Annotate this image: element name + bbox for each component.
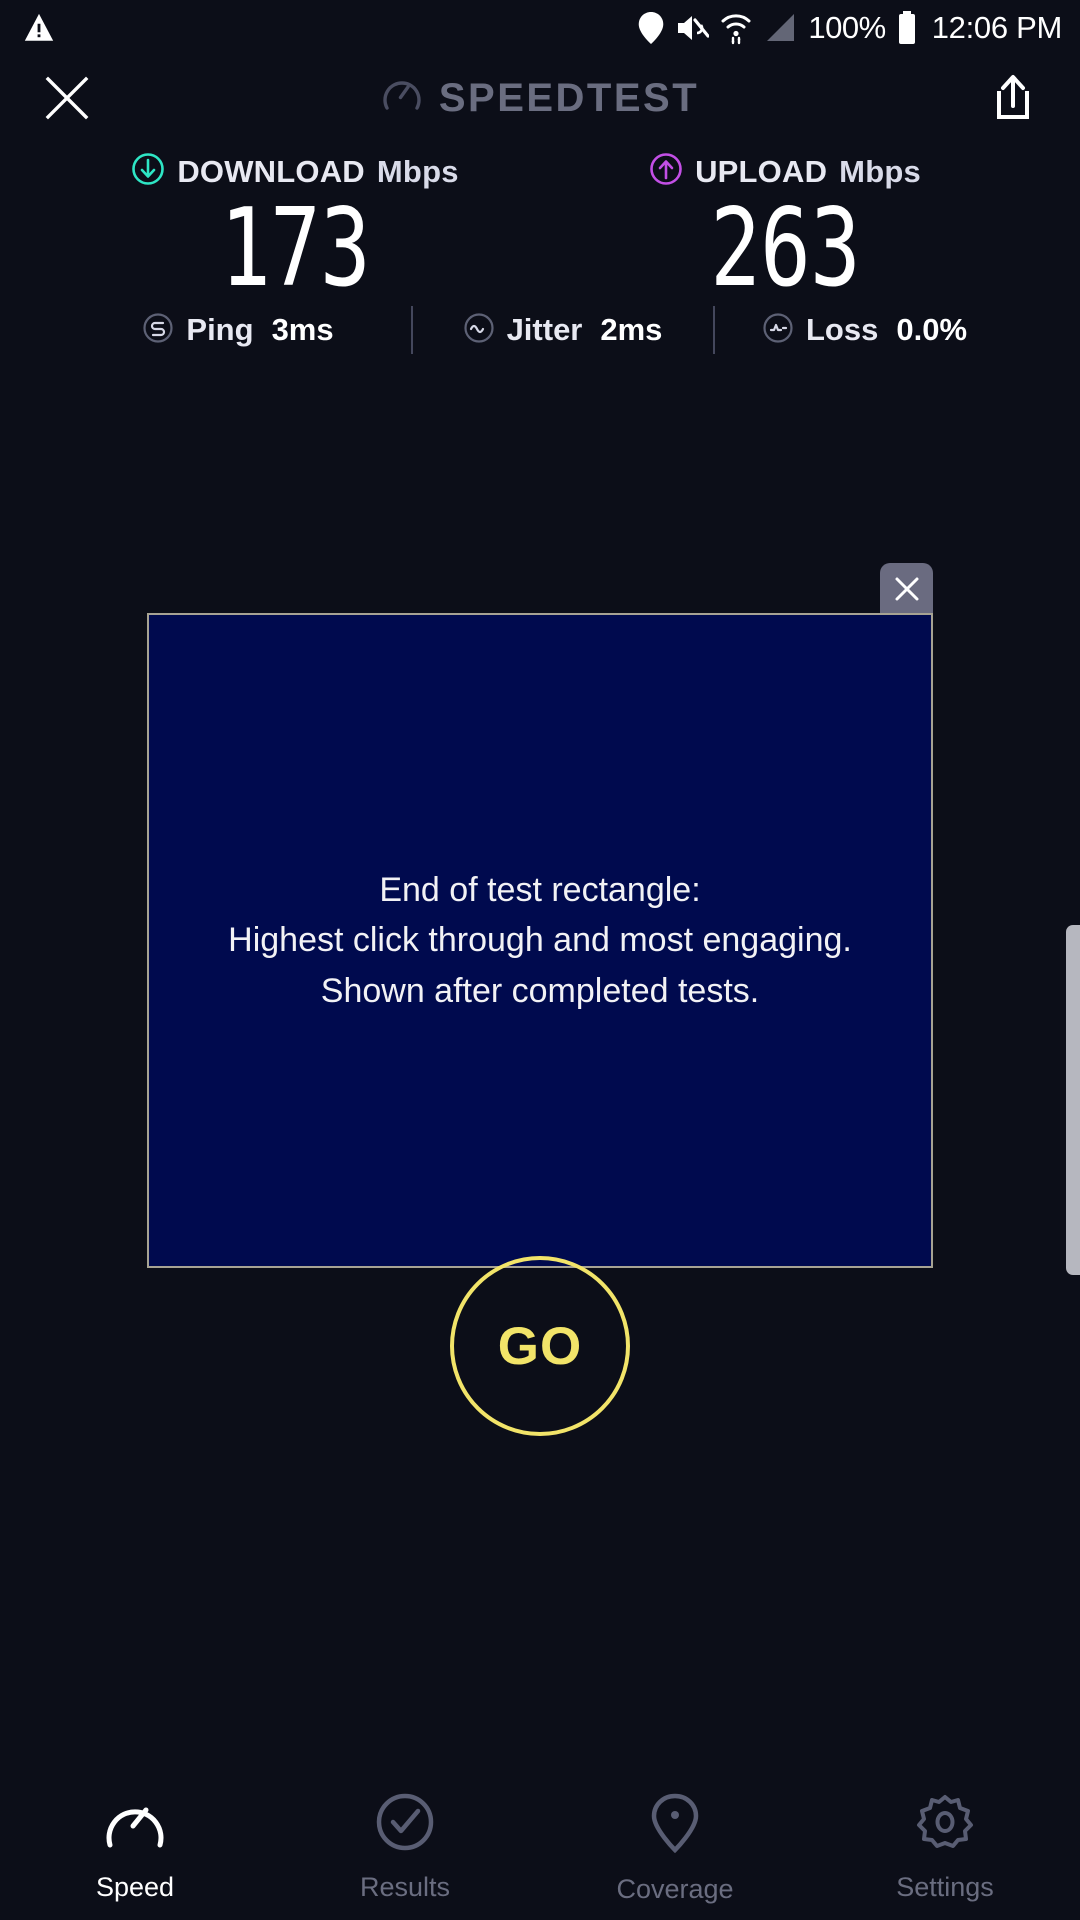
- jitter-name: Jitter: [507, 312, 583, 348]
- ping-value: 3ms: [272, 312, 334, 348]
- ad-text: End of test rectangle: Highest click thr…: [228, 865, 852, 1016]
- upload-arrow-icon: [649, 152, 683, 191]
- app-header: SPEEDTEST: [0, 56, 1080, 140]
- battery-percent-label: 100%: [808, 10, 885, 46]
- close-button[interactable]: [38, 69, 96, 127]
- status-bar: 100% 12:06 PM: [0, 0, 1080, 56]
- brand: SPEEDTEST: [381, 75, 699, 122]
- warning-triangle-icon: [22, 11, 56, 45]
- status-bar-left: [22, 11, 56, 45]
- loss-value: 0.0%: [896, 312, 967, 348]
- ad-rectangle[interactable]: End of test rectangle: Highest click thr…: [147, 613, 933, 1268]
- loss-name: Loss: [806, 312, 878, 348]
- bottom-navigation: Speed Results Coverage: [0, 1785, 1080, 1920]
- ping-stat: Ping 3ms: [66, 312, 411, 349]
- jitter-stat: Jitter 2ms: [413, 312, 713, 349]
- status-bar-right: 100% 12:06 PM: [638, 10, 1062, 46]
- check-circle-icon: [375, 1793, 435, 1856]
- speedtest-app-screen: 100% 12:06 PM SPEEDTEST: [0, 0, 1080, 1920]
- loss-stat: Loss 0.0%: [715, 312, 1015, 349]
- metric-row: DOWNLOAD Mbps 173 UPLOAD Mbps: [0, 140, 1080, 303]
- upload-metric: UPLOAD Mbps 263: [575, 152, 995, 303]
- loss-icon: [762, 312, 794, 349]
- nav-item-coverage[interactable]: Coverage: [540, 1793, 810, 1905]
- volume-mute-icon: [675, 12, 709, 44]
- page-title: SPEEDTEST: [439, 76, 699, 121]
- nav-label-settings: Settings: [896, 1872, 994, 1903]
- ping-name: Ping: [186, 312, 253, 348]
- go-button[interactable]: GO: [450, 1256, 630, 1436]
- ping-icon: [142, 312, 174, 349]
- speedometer-icon: [103, 1793, 167, 1856]
- share-button[interactable]: [984, 69, 1042, 127]
- nav-item-results[interactable]: Results: [270, 1793, 540, 1903]
- download-value: 173: [220, 195, 370, 303]
- results-panel: DOWNLOAD Mbps 173 UPLOAD Mbps: [0, 140, 1080, 303]
- download-unit: Mbps: [377, 154, 459, 190]
- wifi-icon: [720, 11, 752, 45]
- nav-label-results: Results: [360, 1872, 450, 1903]
- clock-label: 12:06 PM: [932, 10, 1062, 46]
- location-pin-icon: [638, 12, 664, 44]
- jitter-icon: [463, 312, 495, 349]
- nav-item-speed[interactable]: Speed: [0, 1793, 270, 1903]
- cellular-signal-icon: [763, 12, 797, 44]
- download-label: DOWNLOAD: [177, 154, 365, 190]
- nav-item-settings[interactable]: Settings: [810, 1793, 1080, 1903]
- download-arrow-icon: [131, 152, 165, 191]
- vertical-scrollbar[interactable]: [1066, 925, 1080, 1275]
- jitter-value: 2ms: [600, 312, 662, 348]
- nav-label-speed: Speed: [96, 1872, 174, 1903]
- ad-close-button[interactable]: [880, 563, 933, 615]
- location-pin-icon: [649, 1793, 701, 1858]
- upload-unit: Mbps: [839, 154, 921, 190]
- nav-label-coverage: Coverage: [616, 1874, 733, 1905]
- upload-value: 263: [710, 195, 860, 303]
- upload-label: UPLOAD: [695, 154, 827, 190]
- gear-icon: [915, 1793, 975, 1856]
- substats-row: Ping 3ms Jitter 2ms: [0, 300, 1080, 360]
- battery-full-icon: [897, 11, 917, 45]
- speedometer-icon: [381, 75, 423, 122]
- go-button-label: GO: [498, 1316, 582, 1377]
- download-metric: DOWNLOAD Mbps 173: [85, 152, 505, 303]
